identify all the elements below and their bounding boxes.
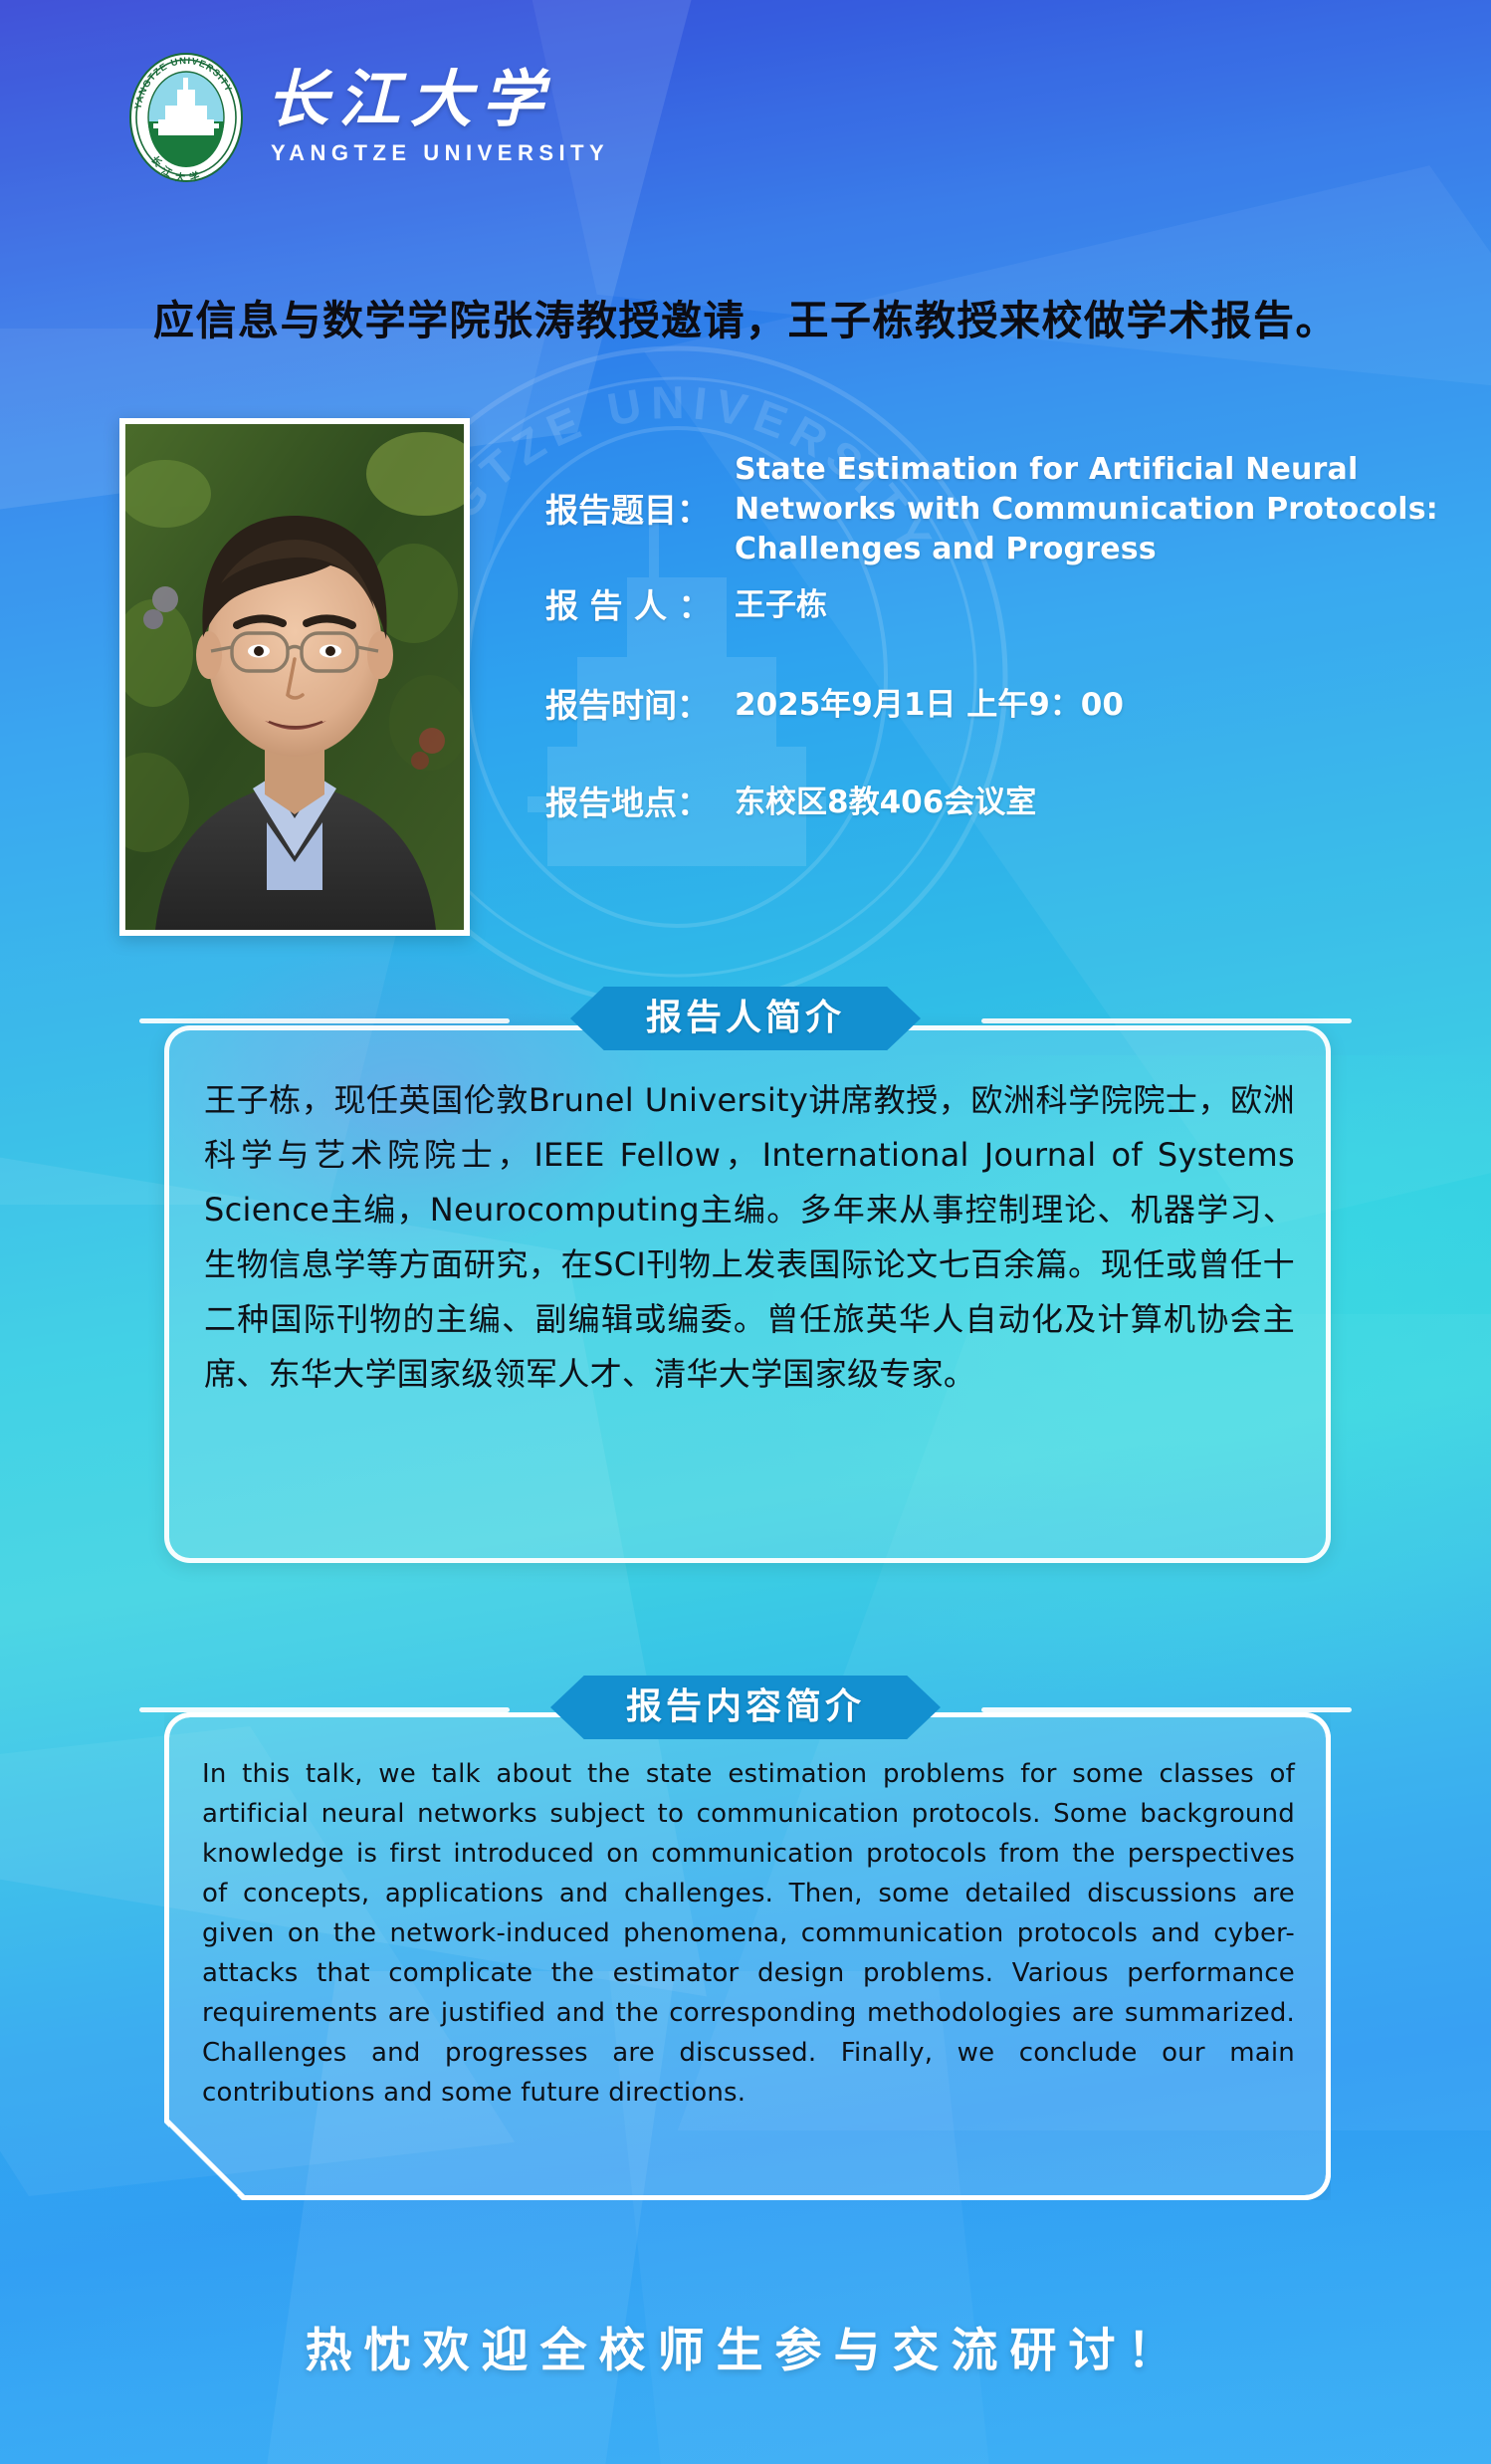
info-row-speaker: 报 告 人 ： 王子栋 xyxy=(545,585,1441,627)
university-name-cn: 长江大学 xyxy=(267,69,553,133)
footer-tagline: 热忱欢迎全校师生参与交流研讨！ xyxy=(0,2312,1491,2380)
university-wordmark: 长江大学 YANGTZE UNIVERSITY xyxy=(267,69,609,166)
title-value: State Estimation for Artificial Neural N… xyxy=(735,450,1441,569)
university-logo: YANGTZE UNIVERSITY 长江大学 长江大学 YANGTZE UNI… xyxy=(127,52,609,183)
university-seal-icon: YANGTZE UNIVERSITY 长江大学 xyxy=(127,52,245,183)
bio-heading: 报告人简介 xyxy=(570,987,921,1050)
speaker-value: 王子栋 xyxy=(735,585,1441,626)
university-name-en: YANGTZE UNIVERSITY xyxy=(271,140,609,166)
abstract-heading: 报告内容简介 xyxy=(550,1676,941,1739)
ribbon-rule-left xyxy=(139,1018,510,1023)
page-title: 应信息与数学学院张涛教授邀请，王子栋教授来校做学术报告。 xyxy=(0,287,1491,346)
speaker-photo xyxy=(119,418,470,936)
info-row-place: 报告地点： 东校区8教406会议室 xyxy=(545,783,1441,824)
place-label: 报告地点： xyxy=(545,783,735,824)
ribbon-rule-right xyxy=(981,1707,1352,1712)
title-label: 报告题目： xyxy=(545,450,735,532)
time-label: 报告时间： xyxy=(545,685,735,727)
place-value: 东校区8教406会议室 xyxy=(735,783,1441,823)
abstract-text: In this talk, we talk about the state es… xyxy=(202,1754,1295,2113)
talk-info: 报告题目： State Estimation for Artificial Ne… xyxy=(545,450,1441,824)
bio-text: 王子栋，现任英国伦敦Brunel University讲席教授，欧洲科学院院士，… xyxy=(204,1073,1295,1402)
ribbon-rule-left xyxy=(139,1707,510,1712)
time-value: 2025年9月1日 上午9：00 xyxy=(735,685,1441,726)
poster-canvas: YANGTZE UNIVERSITY xyxy=(0,0,1491,2464)
info-row-time: 报告时间： 2025年9月1日 上午9：00 xyxy=(545,685,1441,727)
ribbon-rule-right xyxy=(981,1018,1352,1023)
speaker-label: 报 告 人 ： xyxy=(545,585,735,627)
info-row-title: 报告题目： State Estimation for Artificial Ne… xyxy=(545,450,1441,569)
